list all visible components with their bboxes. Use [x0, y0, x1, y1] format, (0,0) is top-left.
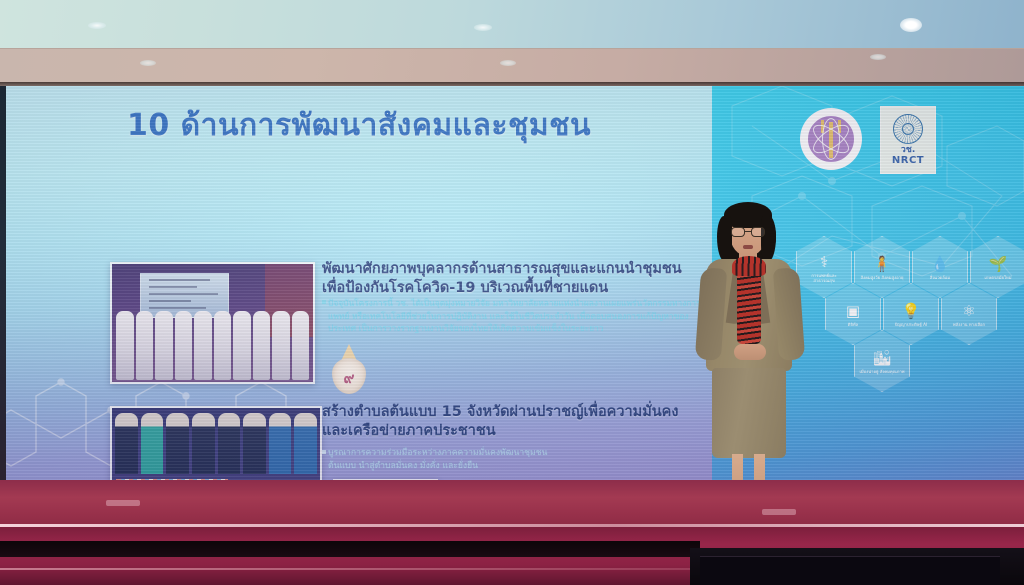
- nrct-trident-atom-logo-icon: [800, 108, 862, 170]
- page-title: 10 ด้านการพัฒนาสังคมและชุมชน: [6, 102, 712, 149]
- ai-bulb-icon: 💡: [902, 304, 921, 319]
- water-drop-icon: 💧: [931, 257, 950, 272]
- stage-shadow-gap: [0, 541, 700, 557]
- downlight-icon: [500, 60, 516, 66]
- led-screen: 10 ด้านการพัฒนาสังคมและชุมชน: [6, 86, 1024, 486]
- slide-block-2-body: บูรณาการความร่วมมือระหว่างภาคความมั่นคงพ…: [328, 447, 628, 473]
- presentation-scene: 10 ด้านการพัฒนาสังคมและชุมชน: [0, 0, 1024, 585]
- ceiling-soffit: [0, 48, 1024, 86]
- slide-photo-officials: [110, 406, 322, 486]
- slide-photo-ppe-team: [110, 262, 315, 384]
- stage-floor: [0, 480, 1024, 530]
- downlight-icon: [88, 22, 106, 29]
- royal-crest-icon: ๙: [328, 344, 370, 396]
- city-icon: 🏙: [872, 351, 891, 366]
- network-icon: ⚛: [962, 304, 975, 319]
- foreground-monitor: [700, 556, 1000, 585]
- slide-block-2-headline: สร้างตำบลต้นแบบ 15 จังหวัดผ่านปราชญ์เพื่…: [322, 403, 704, 440]
- slide-left-panel: 10 ด้านการพัฒนาสังคมและชุมชน: [6, 86, 712, 486]
- plant-hand-icon: 🌱: [989, 257, 1008, 272]
- hexagon-icon-grid: ⚕ การแพทย์และ สาธารณสุข 🧍 สังคมสูงวัย สั…: [796, 236, 1024, 371]
- downlight-icon: [870, 54, 886, 60]
- floor-plate: [106, 500, 140, 506]
- medical-icon: ⚕: [820, 255, 828, 270]
- downlight-icon: [900, 18, 922, 32]
- floor-plate: [762, 509, 796, 515]
- bullet-marker-icon: [322, 450, 326, 454]
- nrct-wordmark-logo: วช. NRCT: [880, 106, 936, 174]
- elderly-icon: 🧍: [873, 257, 892, 272]
- bullet-marker-icon: [322, 300, 326, 304]
- chip-icon: ▣: [846, 304, 860, 319]
- slide-block-1-body: ปัจจุบันโครงการนี้ วช. ได้เป็นจุดมุ่งหมา…: [328, 297, 708, 335]
- downlight-icon: [140, 60, 156, 66]
- ceiling: [0, 0, 1024, 52]
- downlight-icon: [474, 24, 492, 31]
- slide-block-1-headline: พัฒนาศักยภาพบุคลากรด้านสาธารณสุขและแกนนำ…: [322, 260, 704, 297]
- eyeglasses-icon: [731, 227, 765, 237]
- presenter-figure: [684, 196, 814, 516]
- logo-group: วช. NRCT: [800, 106, 950, 176]
- nrct-seal-icon: [893, 114, 923, 144]
